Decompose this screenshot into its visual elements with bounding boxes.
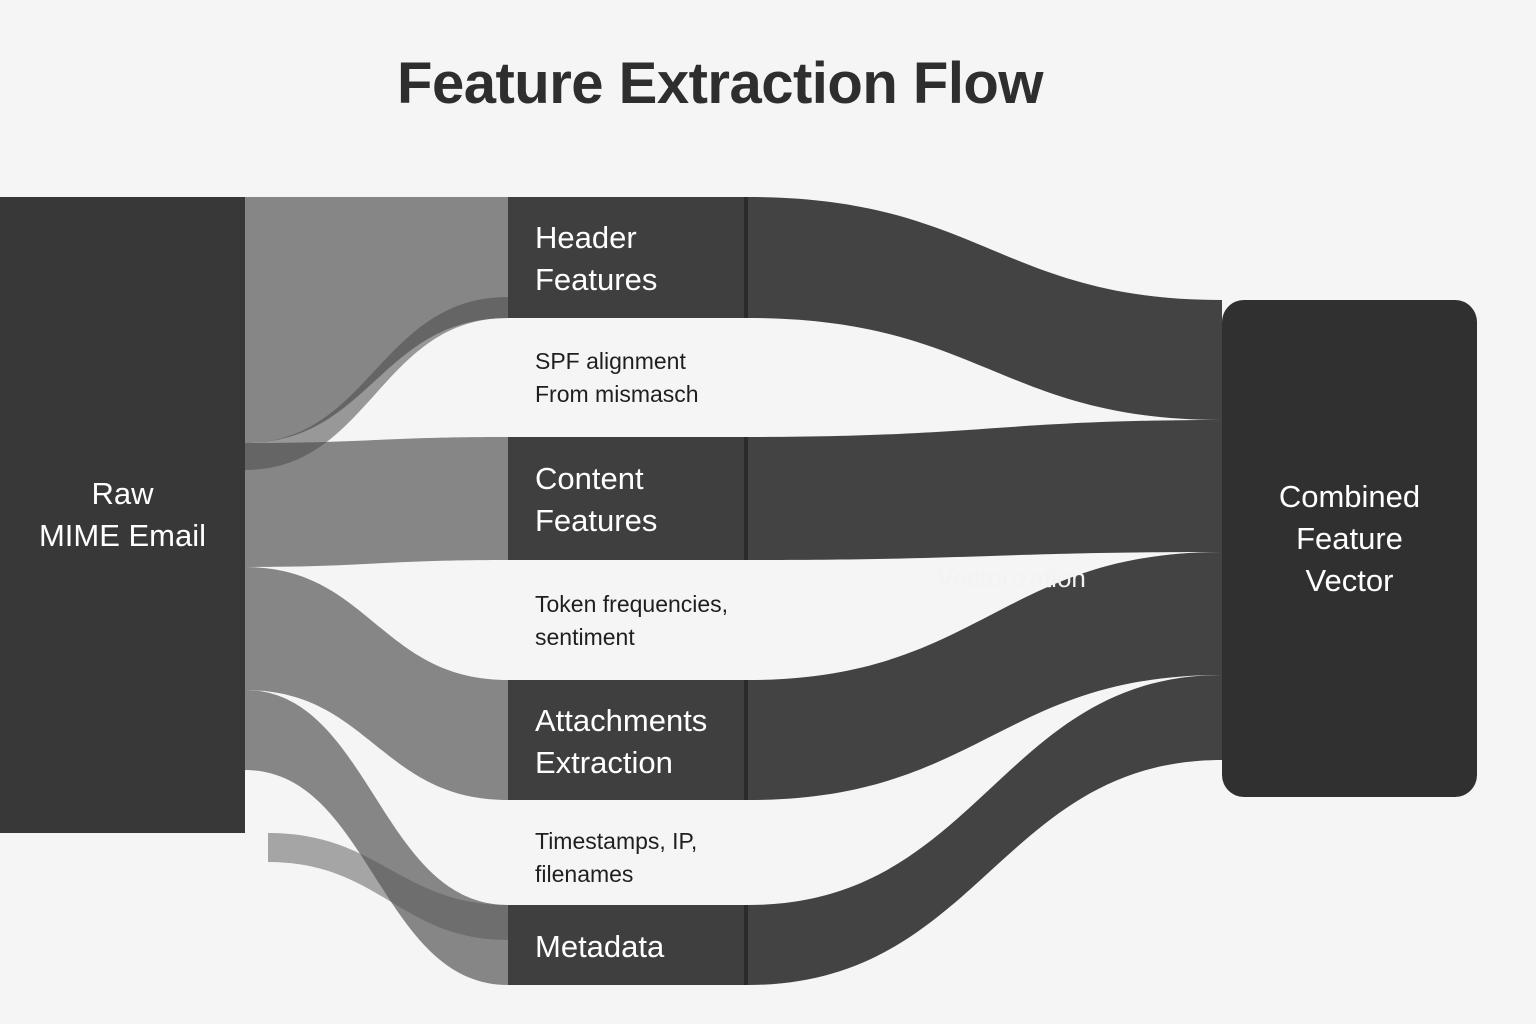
link-header-to-combined[interactable] (748, 197, 1222, 420)
node-group (0, 197, 1477, 985)
link-content-to-combined[interactable] (748, 420, 1222, 560)
flow-graphics (0, 0, 1536, 1024)
node-header-features[interactable] (508, 197, 748, 318)
node-divider-metadata (744, 905, 748, 985)
node-content-features[interactable] (508, 437, 748, 560)
target-link-group (748, 197, 1222, 985)
node-divider-content (744, 437, 748, 560)
node-divider-attachments (744, 680, 748, 800)
node-metadata[interactable] (508, 905, 748, 985)
node-raw-mime-email[interactable] (0, 197, 245, 833)
source-link-group (245, 197, 508, 985)
node-combined-feature-vector[interactable] (1222, 300, 1477, 797)
node-attachments-extraction[interactable] (508, 680, 748, 800)
sankey-diagram-canvas: Feature Extraction Flow (0, 0, 1536, 1024)
node-divider-header (744, 197, 748, 318)
